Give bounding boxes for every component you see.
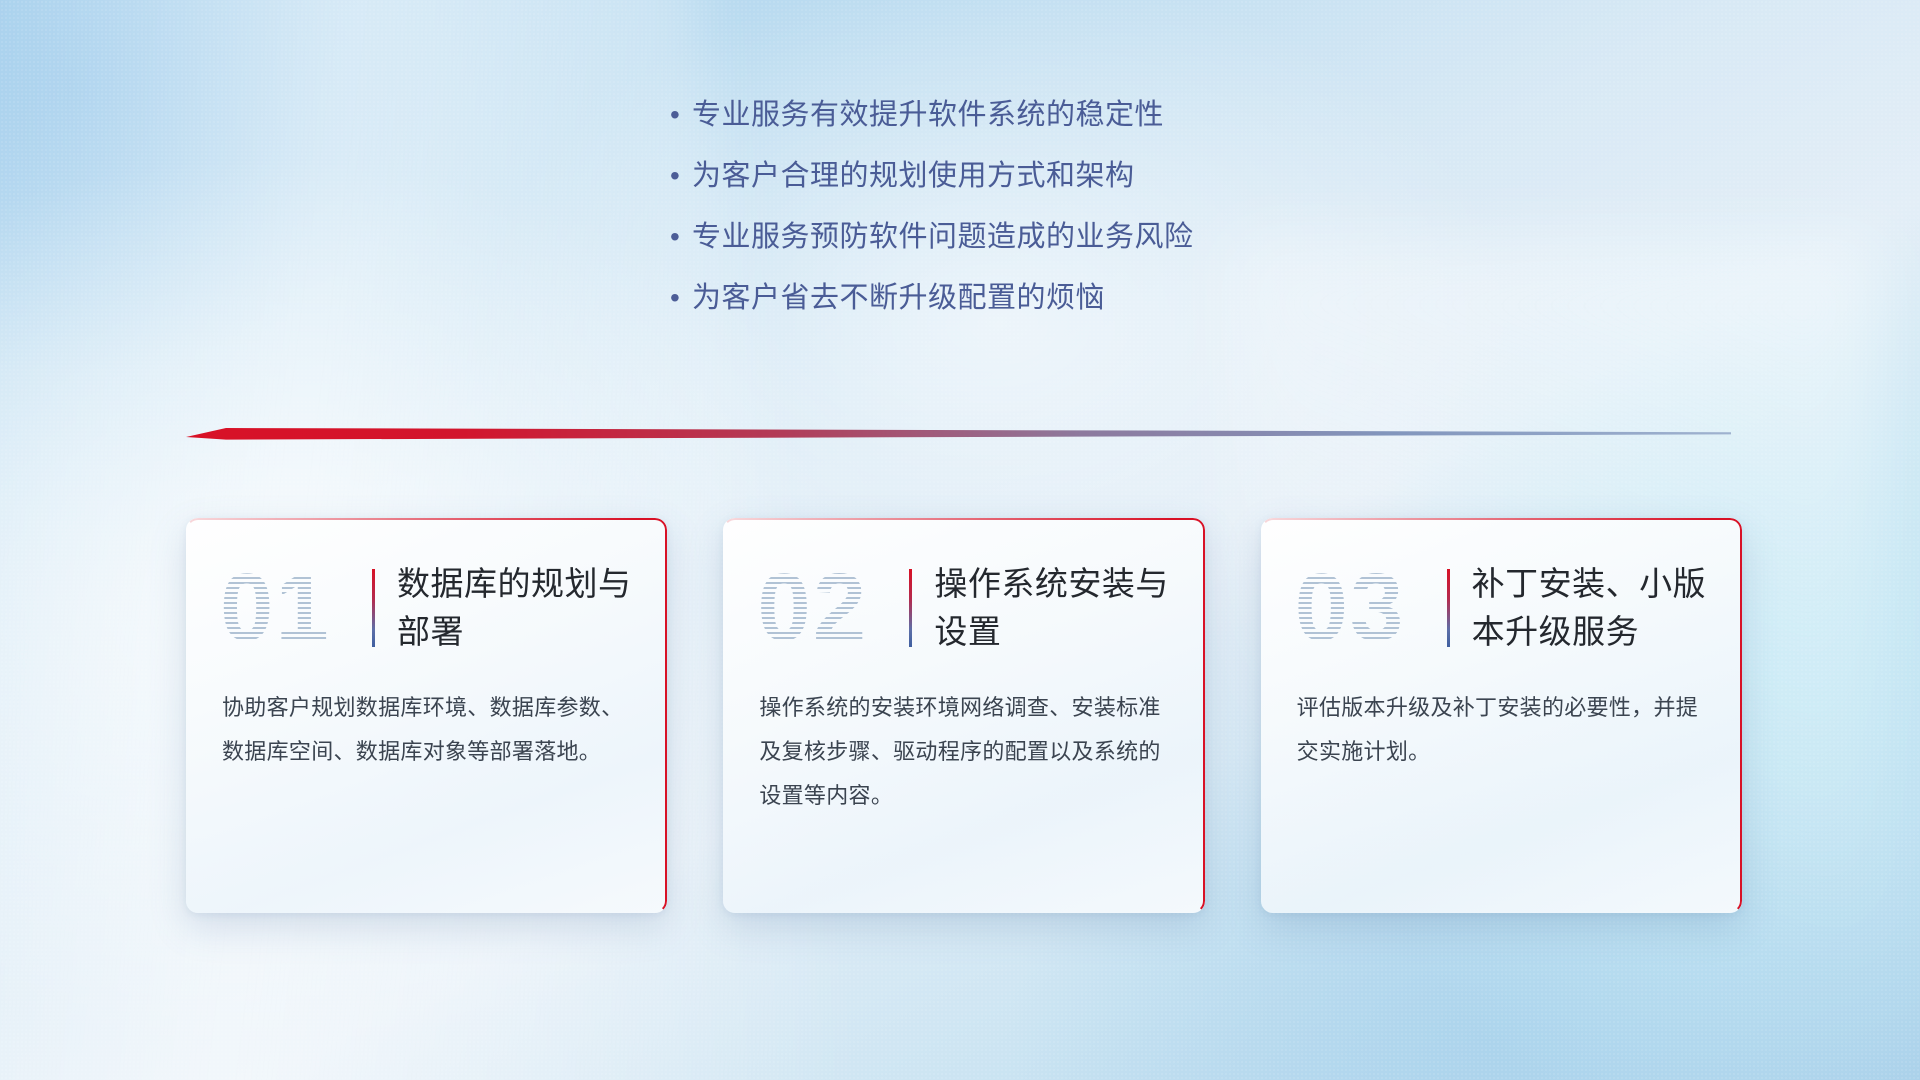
card-header: 01 数据库的规划与部署 [186,518,667,664]
card-row: 01 数据库的规划与部署 协助客户规划数据库环境、数据库参数、数据库空间、数据库… [186,518,1742,913]
bullet-dot-icon: • [666,154,692,198]
service-card-01[interactable]: 01 数据库的规划与部署 协助客户规划数据库环境、数据库参数、数据库空间、数据库… [186,518,667,913]
bullet-item: • 专业服务有效提升软件系统的稳定性 [666,93,1446,137]
card-divider-line [909,569,912,647]
bullet-dot-icon: • [666,276,692,320]
bullet-dot-icon: • [666,215,692,259]
bullet-text: 专业服务有效提升软件系统的稳定性 [692,93,1164,137]
bullet-item: • 为客户合理的规划使用方式和架构 [666,154,1446,198]
bullet-item: • 专业服务预防软件问题造成的业务风险 [666,215,1446,259]
card-title: 数据库的规划与部署 [397,560,637,656]
card-divider-line [372,569,375,647]
card-header: 03 补丁安装、小版本升级服务 [1261,518,1742,664]
bullet-item: • 为客户省去不断升级配置的烦恼 [666,276,1446,320]
service-card-02[interactable]: 02 操作系统安装与设置 操作系统的安装环境网络调查、安装标准及复核步骤、驱动程… [723,518,1204,913]
service-card-03[interactable]: 03 补丁安装、小版本升级服务 评估版本升级及补丁安装的必要性，并提交实施计划。 [1261,518,1742,913]
bullet-list: • 专业服务有效提升软件系统的稳定性 • 为客户合理的规划使用方式和架构 • 专… [666,93,1446,337]
bullet-text: 为客户合理的规划使用方式和架构 [692,154,1135,198]
card-title: 补丁安装、小版本升级服务 [1472,560,1712,656]
bullet-text: 专业服务预防软件问题造成的业务风险 [692,215,1194,259]
bullet-dot-icon: • [666,93,692,137]
card-number: 03 [1295,552,1445,664]
card-body-text: 操作系统的安装环境网络调查、安装标准及复核步骤、驱动程序的配置以及系统的设置等内… [723,664,1204,818]
card-divider-line [1447,569,1450,647]
card-body-text: 评估版本升级及补丁安装的必要性，并提交实施计划。 [1261,664,1742,774]
card-number: 02 [757,552,907,664]
section-divider [186,424,1731,446]
card-body-text: 协助客户规划数据库环境、数据库参数、数据库空间、数据库对象等部署落地。 [186,664,667,774]
bullet-text: 为客户省去不断升级配置的烦恼 [692,276,1105,320]
card-title: 操作系统安装与设置 [934,560,1174,656]
slide-canvas: • 专业服务有效提升软件系统的稳定性 • 为客户合理的规划使用方式和架构 • 专… [0,0,1920,1080]
card-number: 01 [220,552,370,664]
card-header: 02 操作系统安装与设置 [723,518,1204,664]
